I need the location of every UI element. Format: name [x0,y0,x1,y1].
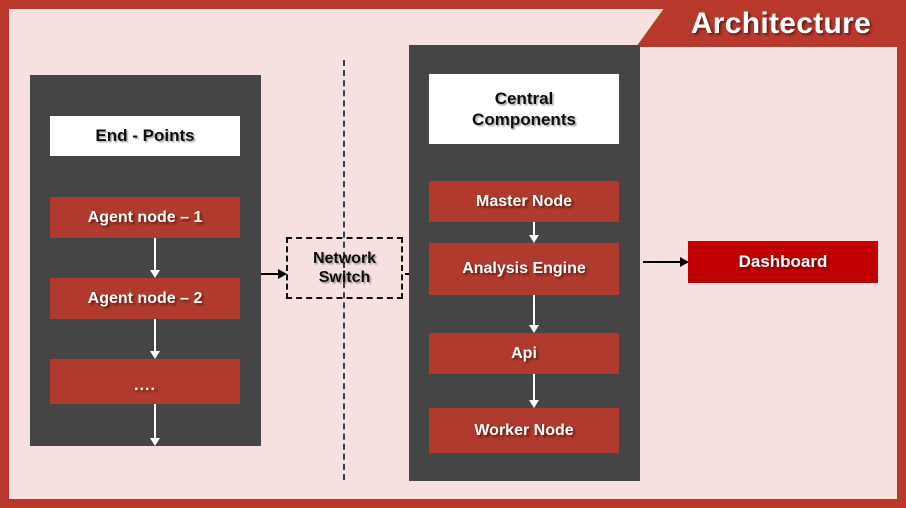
arrow-ellipsis-downward [154,404,156,439]
arrow-agent2-to-ellipsis [154,319,156,352]
arrow-central-to-dashboard [643,261,681,263]
node-agent-node-2[interactable]: Agent node – 2 [50,278,240,319]
network-switch-label: NetworkSwitch [313,249,376,287]
arrow-api-to-worker [533,374,535,401]
architecture-slide: Architecture End - Points Agent node – 1… [0,0,906,508]
node-analysis-engine[interactable]: Analysis Engine [429,243,619,295]
node-master-node[interactable]: Master Node [429,181,619,222]
title-banner: Architecture [636,0,906,47]
network-switch-box[interactable]: NetworkSwitch [286,237,403,299]
arrow-analysis-to-api [533,295,535,326]
node-agent-node-1[interactable]: Agent node – 1 [50,197,240,238]
arrow-endpoints-to-network-switch [261,273,279,275]
node-api[interactable]: Api [429,333,619,374]
arrow-agent1-to-agent2 [154,238,156,271]
node-worker-node[interactable]: Worker Node [429,408,619,453]
endpoints-header: End - Points [50,116,240,156]
node-dashboard[interactable]: Dashboard [688,241,878,283]
node-ellipsis[interactable]: .... [50,359,240,404]
arrow-master-to-analysis [533,222,535,236]
central-components-header: CentralComponents [429,74,619,144]
page-title: Architecture [691,7,871,41]
